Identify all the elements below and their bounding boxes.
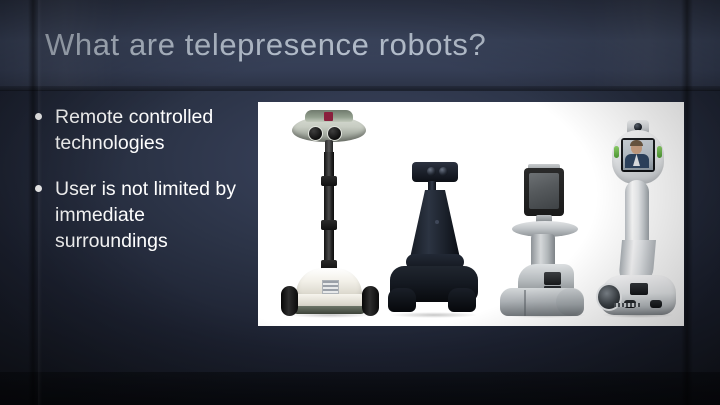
slide-canvas: What are telepresence robots? Remote con… bbox=[0, 0, 720, 405]
slide-vignette bbox=[0, 0, 720, 405]
